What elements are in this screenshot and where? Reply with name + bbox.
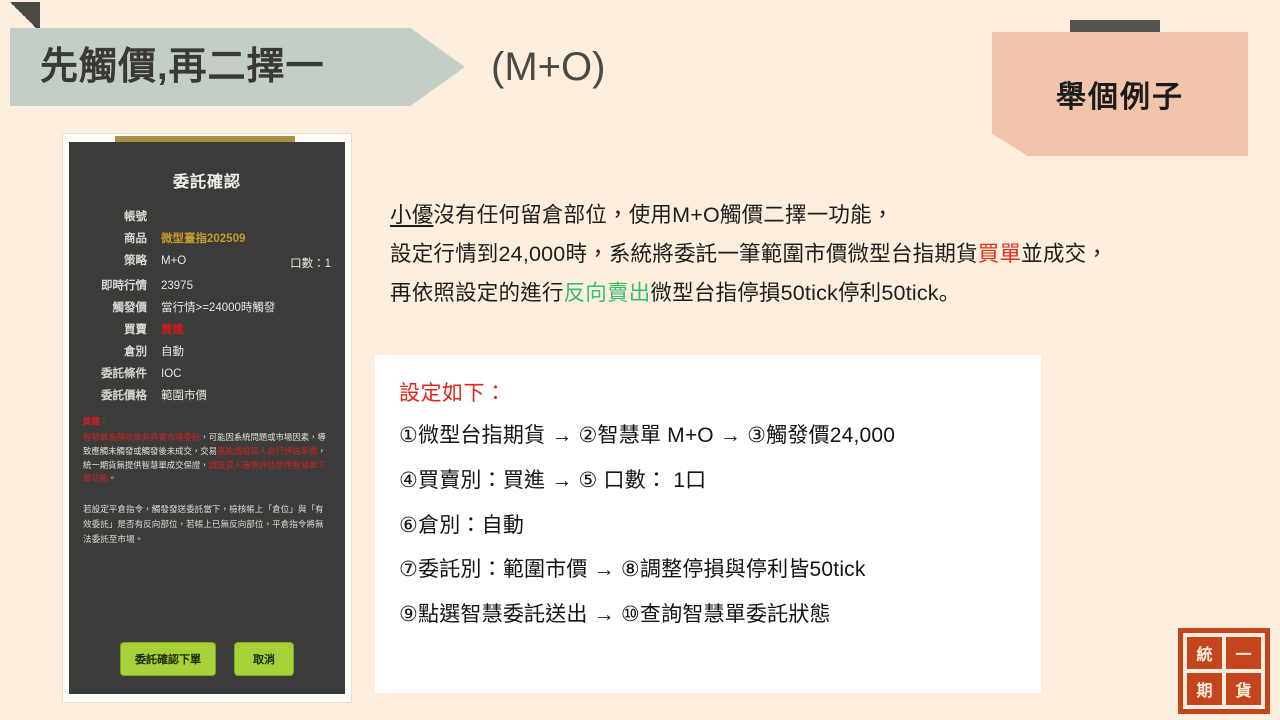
banner-shape: 先觸價,再二擇一	[10, 28, 465, 106]
scenario-line-3: 再依照設定的進行反向賣出微型台指停損50tick停利50tick。	[390, 274, 1270, 313]
row-label: 委託條件	[83, 365, 161, 381]
row-label: 買賣	[83, 321, 161, 337]
scenario-line-2: 設定行情到24,000時，系統將委託一筆範圍市價微型台指期貨買單並成交，	[390, 235, 1270, 274]
strategy-value: M+O	[161, 255, 186, 271]
order-dialog-title: 委託確認	[83, 168, 331, 192]
row-label: 策略	[83, 252, 161, 268]
risk-notice-text: 提醒： 智慧單為預收單非真實市場委託，可能因系統問題或市場因素，導致應觸未觸發或…	[83, 415, 331, 486]
risk-notice-heading: 提醒：	[83, 415, 331, 429]
risk-notice-red-1: 智慧單為預收單非真實市場委託	[83, 432, 200, 442]
phone-screen: 委託確認 帳號 商品 微型臺指202509 策略 M+O 口數：1	[69, 142, 345, 694]
table-row: 倉別 自動	[83, 343, 331, 359]
row-label: 商品	[83, 230, 161, 246]
risk-notice-body-3: 。	[108, 473, 116, 483]
seal-char: 一	[1226, 637, 1261, 669]
row-value: 買進	[161, 321, 184, 337]
dialog-button-row: 委託確認下單 取消	[83, 642, 331, 686]
reverse-sell-highlight: 反向賣出	[564, 281, 651, 305]
lot-count-value: 口數：1	[290, 255, 331, 271]
example-badge: 舉個例子	[992, 32, 1248, 156]
scenario-line-1-rest: 沒有任何留倉部位，使用M+O觸價二擇一功能，	[433, 203, 893, 227]
list-item: ④買賣別：買進 → ⑤ 口數： 1口	[399, 466, 1017, 496]
row-value: 自動	[161, 343, 184, 359]
row-label: 觸發價	[83, 299, 161, 315]
settings-card-heading: 設定如下：	[399, 377, 1017, 407]
list-item: ①微型台指期貨 → ②智慧單 M+O → ③觸發價24,000	[399, 421, 1017, 451]
banner-suffix-label: (M+O)	[491, 47, 605, 87]
scenario-line-2-b: 並成交，	[1021, 242, 1108, 266]
slide-canvas: 先觸價,再二擇一 (M+O) 舉個例子 委託確認 帳號 商品 微型臺指20250…	[0, 0, 1280, 720]
scenario-line-3-a: 再依照設定的進行	[390, 281, 564, 305]
order-detail-list: 帳號 商品 微型臺指202509 策略 M+O 口數：1 即時行情 23975	[83, 208, 331, 403]
row-value-pair: M+O 口數：1	[161, 255, 331, 271]
scenario-line-2-a: 設定行情到24,000時，系統將委託一筆範圍市價微型台指期貨	[390, 242, 978, 266]
scenario-line-3-b: 微型台指停損50tick停利50tick。	[650, 281, 960, 305]
close-position-notice: 若設定平倉指令，觸發發送委託當下，檢核帳上「倉位」與「有效委託」是否有反向部位，…	[83, 502, 331, 546]
table-row: 即時行情 23975	[83, 277, 331, 293]
table-row: 策略 M+O 口數：1	[83, 252, 331, 271]
table-row: 委託條件 IOC	[83, 365, 331, 381]
buy-order-highlight: 買單	[978, 242, 1021, 266]
row-label: 帳號	[83, 208, 161, 224]
row-value: IOC	[161, 368, 181, 380]
row-value: 範圍市價	[161, 387, 207, 403]
table-row: 觸發價 當行情>=24000時觸發	[83, 299, 331, 315]
seal-char: 統	[1187, 637, 1222, 669]
table-row: 買賣 買進	[83, 321, 331, 337]
seal-grid: 統 一 期 貨	[1183, 633, 1265, 709]
list-item: ⑥倉別：自動	[399, 511, 1017, 541]
page-title: 先觸價,再二擇一	[40, 48, 325, 86]
persona-name: 小優	[390, 203, 433, 227]
row-value: 微型臺指202509	[161, 230, 245, 246]
phone-status-strip	[115, 136, 295, 142]
table-row: 帳號	[83, 208, 331, 224]
scenario-line-1: 小優沒有任何留倉部位，使用M+O觸價二擇一功能，	[390, 196, 1270, 235]
seal-char: 期	[1187, 673, 1222, 705]
title-banner: 先觸價,再二擇一 (M+O)	[10, 28, 605, 106]
row-label: 委託價格	[83, 387, 161, 403]
scenario-paragraph: 小優沒有任何留倉部位，使用M+O觸價二擇一功能， 設定行情到24,000時，系統…	[390, 196, 1270, 313]
example-badge-label: 舉個例子	[1056, 72, 1184, 116]
table-row: 委託價格 範圍市價	[83, 387, 331, 403]
row-value: 23975	[161, 280, 193, 292]
list-item: ⑨點選智慧委託送出 → ⑩查詢智慧單委託狀態	[399, 600, 1017, 630]
settings-card: 設定如下： ①微型台指期貨 → ②智慧單 M+O → ③觸發價24,000 ④買…	[375, 355, 1041, 693]
row-value: 當行情>=24000時觸發	[161, 299, 275, 315]
seal-char: 貨	[1226, 673, 1261, 705]
row-label: 倉別	[83, 343, 161, 359]
phone-mockup: 委託確認 帳號 商品 微型臺指202509 策略 M+O 口數：1	[62, 133, 352, 703]
row-label: 即時行情	[83, 277, 161, 293]
cancel-button[interactable]: 取消	[234, 642, 294, 676]
list-item: ⑦委託別：範圍市價 → ⑧調整停損與停利皆50tick	[399, 555, 1017, 585]
risk-notice-red-2: 風險請投資人自行評估承擔	[217, 446, 318, 456]
company-seal-stamp: 統 一 期 貨	[1178, 628, 1270, 714]
table-row: 商品 微型臺指202509	[83, 230, 331, 246]
confirm-order-button[interactable]: 委託確認下單	[120, 642, 216, 676]
